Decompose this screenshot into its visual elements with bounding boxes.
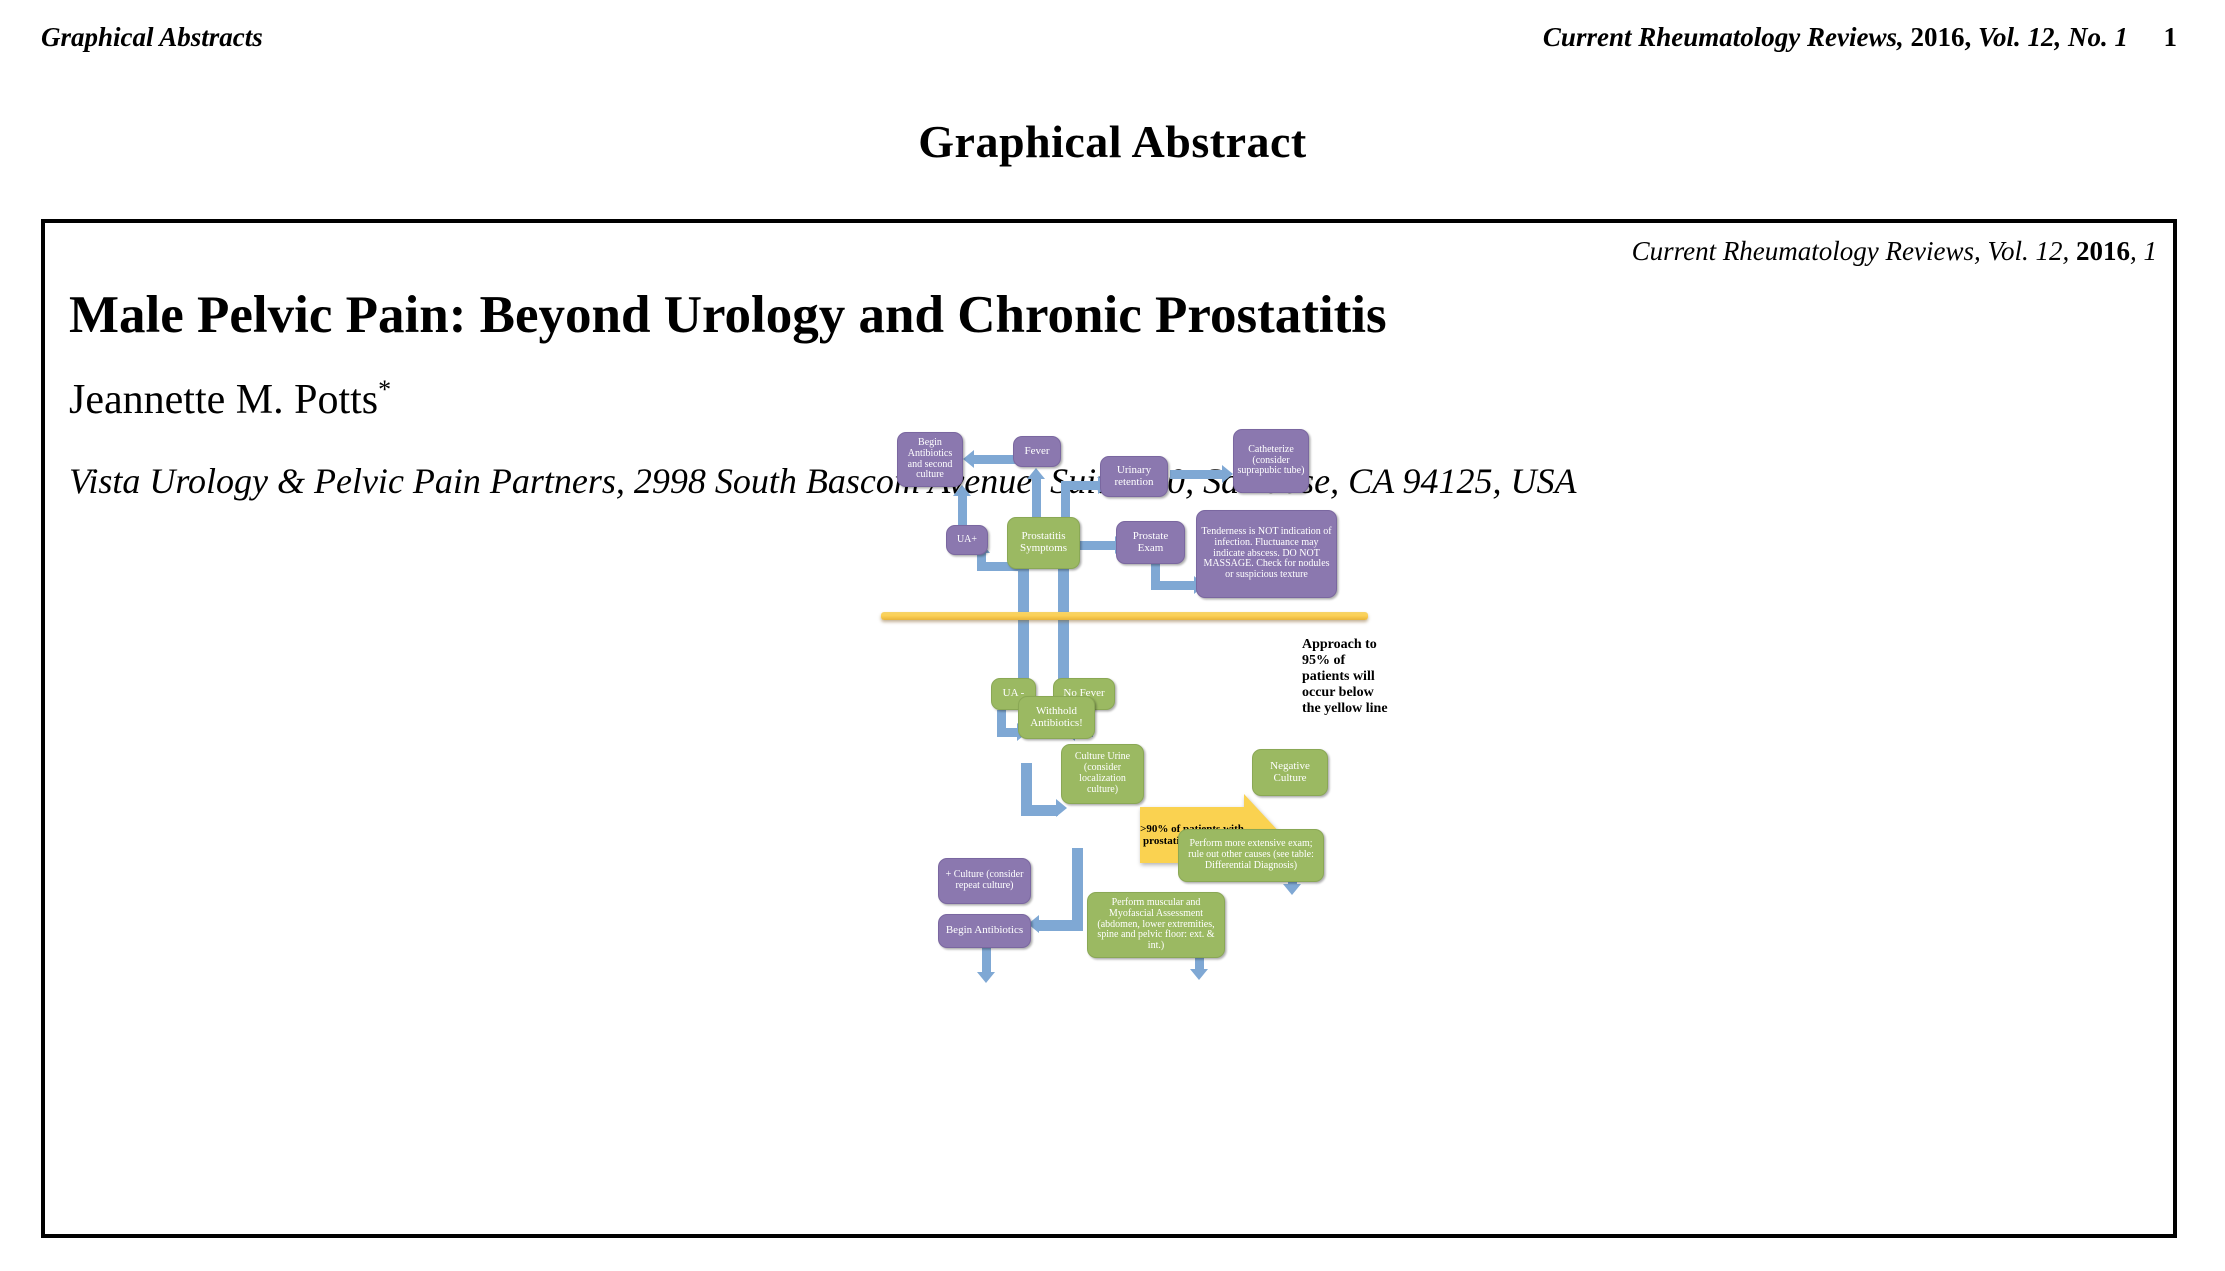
- corresponding-author-marker: *: [378, 375, 391, 404]
- arrowhead-prostatitis-to-fever: [1027, 468, 1045, 479]
- node-ua-positive[interactable]: UA+: [946, 525, 988, 555]
- arrowhead-extensive-exam-to-myofascial: [1190, 969, 1208, 980]
- article-title: Male Pelvic Pain: Beyond Urology and Chr…: [69, 285, 1387, 345]
- connector-prostatitis-to-urinary-retention-h: [1061, 481, 1100, 490]
- page-number: 1: [2164, 22, 2178, 53]
- node-tenderness-note[interactable]: Tenderness is NOT indication of infectio…: [1196, 510, 1337, 598]
- running-head-year: 2016,: [1904, 22, 1972, 52]
- node-begin-antibiotics[interactable]: Begin Antibiotics: [938, 914, 1031, 948]
- node-catheterize[interactable]: Catheterize (consider suprapubic tube): [1233, 429, 1309, 493]
- node-urinary-retention[interactable]: Urinary retention: [1100, 456, 1168, 497]
- connector-ua-negative-to-withhold-h: [997, 728, 1019, 737]
- connector-prostatitis-to-no-fever: [1058, 567, 1069, 685]
- journal-citation-year: 2016: [2069, 236, 2130, 266]
- connector-prostatitis-to-prostate-exam: [1080, 541, 1117, 550]
- node-prostatitis-symptoms[interactable]: Prostatitis Symptoms: [1007, 517, 1080, 569]
- connector-urinary-retention-to-catheterize: [1170, 470, 1224, 479]
- node-extensive-exam[interactable]: Perform more extensive exam; rule out ot…: [1178, 829, 1324, 882]
- connector-positive-culture-to-begin-antibiotics: [982, 946, 991, 974]
- node-myofascial-assessment[interactable]: Perform muscular and Myofascial Assessme…: [1087, 892, 1225, 958]
- node-begin-antibiotics-and-second-culture[interactable]: Begin Antibiotics and second culture: [897, 432, 963, 487]
- journal-citation-journal: Current Rheumatology Reviews, Vol. 12,: [1632, 236, 2070, 266]
- connector-withhold-to-culture-urine-h: [1021, 805, 1058, 816]
- running-head-journal: Current Rheumatology Reviews,: [1543, 22, 1904, 52]
- node-culture-urine[interactable]: Culture Urine (consider localization cul…: [1061, 744, 1144, 804]
- arrowhead-urinary-retention-to-catheterize: [1222, 465, 1233, 483]
- node-positive-culture[interactable]: + Culture (consider repeat culture): [938, 858, 1031, 904]
- connector-culture-urine-to-positive-culture-v: [1072, 848, 1083, 931]
- node-prostate-exam[interactable]: Prostate Exam: [1116, 521, 1185, 564]
- abstract-frame: Current Rheumatology Reviews, Vol. 12, 2…: [41, 219, 2177, 1238]
- author-name: Jeannette M. Potts*: [69, 375, 391, 424]
- yellow-line-note: Approach to 95% of patients will occur b…: [1302, 637, 1392, 717]
- arrowhead-fever-to-begin-antibiotics: [963, 450, 974, 468]
- node-fever[interactable]: Fever: [1013, 436, 1061, 467]
- flowchart-diagram: >90% of patients with prostatitis sympto…: [865, 422, 1425, 1082]
- journal-citation-page: , 1: [2130, 236, 2157, 266]
- connector-prostate-exam-to-tenderness-h: [1151, 581, 1196, 590]
- yellow-threshold-line: [881, 612, 1368, 620]
- running-head-volume: Vol. 12, No. 1: [1971, 22, 2128, 52]
- node-withhold-antibiotics[interactable]: Withhold Antibiotics!: [1018, 696, 1095, 739]
- arrowhead-negative-culture-to-extensive-exam: [1283, 884, 1301, 895]
- running-head: Graphical Abstracts Current Rheumatology…: [0, 0, 2225, 70]
- running-head-left: Graphical Abstracts: [41, 22, 263, 53]
- node-negative-culture[interactable]: Negative Culture: [1252, 749, 1328, 796]
- running-head-right: Current Rheumatology Reviews, 2016, Vol.…: [1543, 22, 2128, 53]
- connector-culture-urine-to-positive-culture-h: [1037, 920, 1083, 931]
- connector-prostatitis-to-ua-negative: [1018, 567, 1029, 685]
- page-title: Graphical Abstract: [0, 115, 2225, 168]
- journal-citation-line: Current Rheumatology Reviews, Vol. 12, 2…: [1632, 236, 2157, 267]
- author-label: Jeannette M. Potts: [69, 377, 378, 423]
- arrowhead-positive-culture-to-begin-antibiotics: [977, 972, 995, 983]
